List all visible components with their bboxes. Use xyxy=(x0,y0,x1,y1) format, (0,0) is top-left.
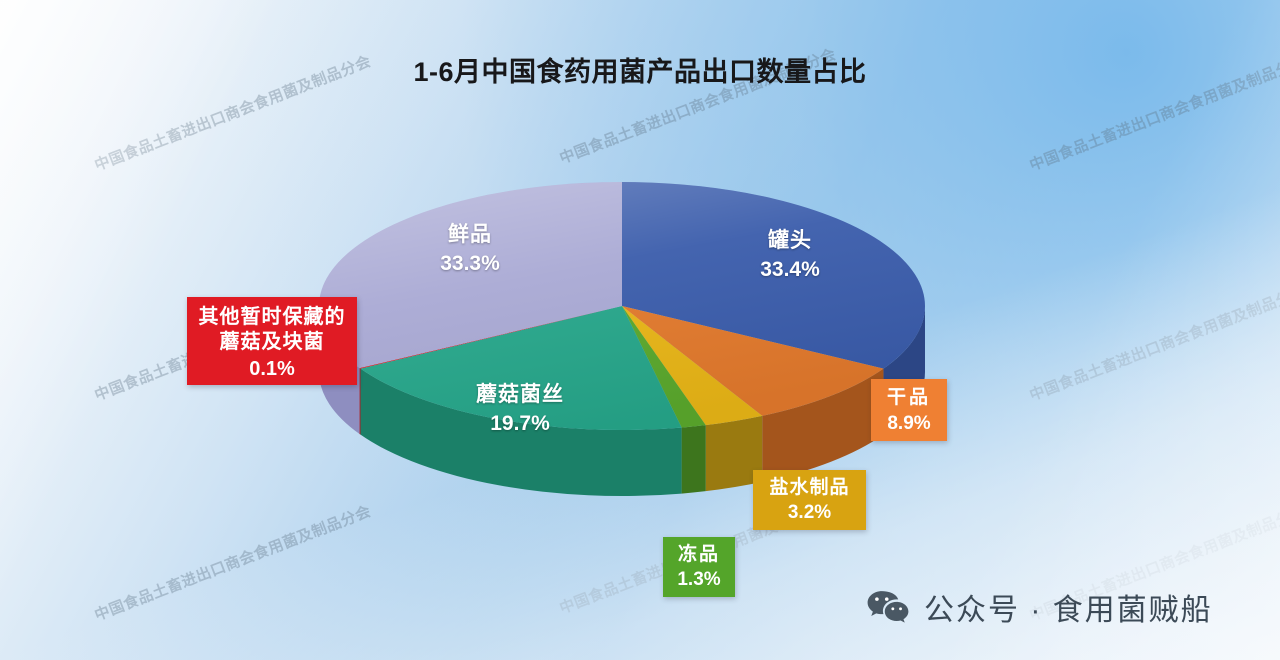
footer-brand-text: 公众号 · 食用菌贼船 xyxy=(924,585,1213,629)
wechat-icon xyxy=(866,590,910,624)
slice-callout-dried: 干品 8.9% xyxy=(871,379,947,441)
chart-title: 1-6月中国食药用菌产品出口数量占比 xyxy=(0,50,1280,89)
slice-label-mycelium-value: 19.7% xyxy=(415,411,625,437)
slice-label-canned-name: 罐头 xyxy=(690,228,890,254)
watermark-text: 中国食品土畜进出口商会食用菌及制品分会 xyxy=(1026,280,1280,405)
slice-label-fresh-name: 鲜品 xyxy=(370,222,570,248)
slice-callout-frozen-name: 冻品 xyxy=(663,543,735,567)
slice-callout-frozen-value: 1.3% xyxy=(663,568,735,592)
slice-callout-brine-name: 盐水制品 xyxy=(753,476,866,500)
pie-chart-svg xyxy=(272,160,972,560)
slice-label-canned-value: 33.4% xyxy=(690,257,890,283)
pie-chart xyxy=(272,160,972,560)
slice-callout-brine-value: 3.2% xyxy=(753,501,866,525)
slice-callout-brine: 盐水制品 3.2% xyxy=(753,470,866,530)
slice-callout-other-line2: 蘑菇及块菌 xyxy=(187,330,357,355)
slice-callout-other-preserved: 其他暂时保藏的 蘑菇及块菌 0.1% xyxy=(187,297,357,385)
pie-slice-side xyxy=(360,368,361,435)
slice-callout-frozen: 冻品 1.3% xyxy=(663,537,735,597)
slice-callout-dried-name: 干品 xyxy=(871,386,947,410)
footer-brand: 公众号 · 食用菌贼船 xyxy=(866,585,1213,629)
slice-callout-other-value: 0.1% xyxy=(187,357,357,382)
slice-label-fresh-value: 33.3% xyxy=(370,251,570,277)
slice-label-mycelium: 蘑菇菌丝 19.7% xyxy=(415,382,625,436)
slice-label-mycelium-name: 蘑菇菌丝 xyxy=(415,382,625,408)
pie-slice-side xyxy=(682,425,706,493)
chart-canvas: 中国食品土畜进出口商会食用菌及制品分会中国食品土畜进出口商会食用菌及制品分会中国… xyxy=(0,0,1280,660)
slice-label-canned: 罐头 33.4% xyxy=(690,228,890,282)
slice-label-fresh: 鲜品 33.3% xyxy=(370,222,570,276)
slice-callout-dried-value: 8.9% xyxy=(871,412,947,436)
slice-callout-other-line1: 其他暂时保藏的 xyxy=(187,305,357,330)
